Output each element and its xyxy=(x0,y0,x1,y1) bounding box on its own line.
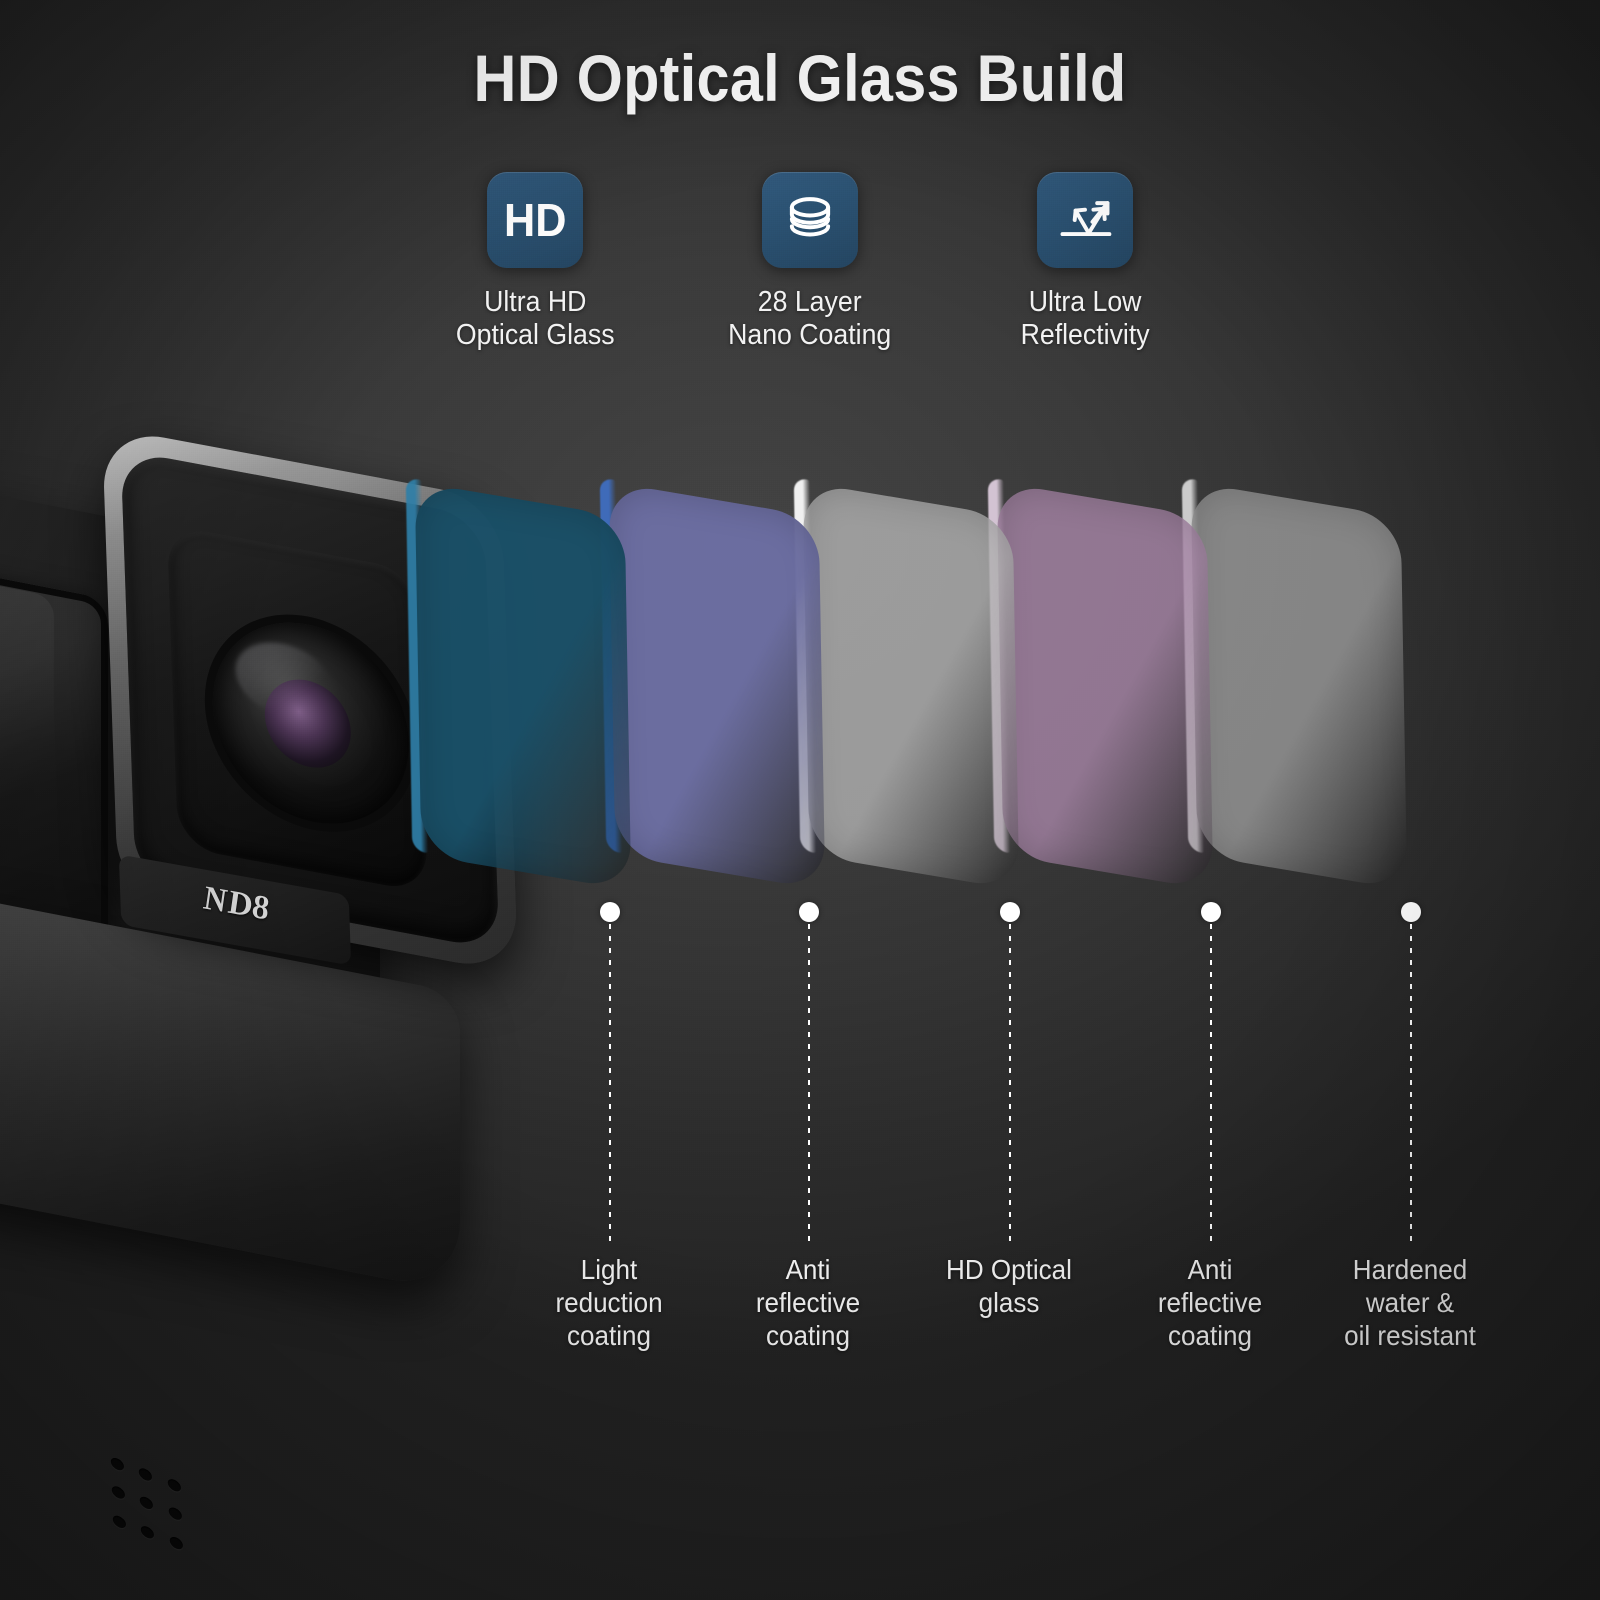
glass-panel-hardened-coating xyxy=(1191,482,1407,890)
layer-caption-anti-reflective-inner: Anti reflective coating xyxy=(1098,1254,1321,1352)
feature-label-line-2: Nano Coating xyxy=(728,319,891,352)
layer-caption-hd-optical-glass: HD Optical glass xyxy=(897,1254,1120,1320)
hd-icon-label: HD xyxy=(504,193,566,247)
microphone-grille-icon xyxy=(111,1456,190,1561)
caption-line-3: coating xyxy=(696,1320,919,1353)
leader-dot-icon xyxy=(1401,902,1421,922)
layer-stack-icon xyxy=(762,172,858,268)
panel-face xyxy=(997,482,1213,890)
panel-face xyxy=(609,482,825,890)
leader-dotted-line xyxy=(808,924,810,1244)
caption-line-2: reflective xyxy=(1098,1287,1321,1320)
infographic-canvas: ND8 xyxy=(0,0,1600,1600)
caption-line-1: Light xyxy=(497,1254,720,1287)
feature-badge-row: HD Ultra HD Optical Glass 28 Layer Nano … xyxy=(430,172,1190,352)
feature-label: Ultra Low Reflectivity xyxy=(1020,286,1149,352)
caption-line-3: coating xyxy=(1098,1320,1321,1353)
page-title: HD Optical Glass Build xyxy=(80,40,1520,116)
caption-line-1: Hardened xyxy=(1298,1254,1521,1287)
layer-caption-hardened-coating: Hardened water & oil resistant xyxy=(1298,1254,1521,1352)
caption-line-3: coating xyxy=(497,1320,720,1353)
leader-dotted-line xyxy=(609,924,611,1244)
caption-line-1: Anti xyxy=(1098,1254,1321,1287)
glass-panel-anti-reflective-inner xyxy=(997,482,1213,890)
panel-face xyxy=(803,482,1019,890)
caption-line-2: water & xyxy=(1298,1287,1521,1320)
leader-dot-icon xyxy=(799,902,819,922)
leader-dotted-line xyxy=(1210,924,1212,1244)
feature-28-layer-nano-coating: 28 Layer Nano Coating xyxy=(705,172,915,352)
feature-label-line-1: 28 Layer xyxy=(728,286,891,319)
caption-line-2: glass xyxy=(897,1287,1120,1320)
feature-label: Ultra HD Optical Glass xyxy=(456,286,615,352)
low-reflectivity-icon xyxy=(1037,172,1133,268)
feature-label-line-2: Reflectivity xyxy=(1020,319,1149,352)
hd-text-icon: HD xyxy=(487,172,583,268)
glass-panel-hd-optical-glass xyxy=(803,482,1019,890)
caption-line-1: HD Optical xyxy=(897,1254,1120,1287)
caption-line-3: oil resistant xyxy=(1298,1320,1521,1353)
caption-line-1: Anti xyxy=(696,1254,919,1287)
leader-dot-icon xyxy=(600,902,620,922)
leader-dot-icon xyxy=(1000,902,1020,922)
feature-ultra-hd-optical-glass: HD Ultra HD Optical Glass xyxy=(430,172,640,352)
feature-label-line-1: Ultra Low xyxy=(1020,286,1149,319)
caption-line-2: reflective xyxy=(696,1287,919,1320)
layer-caption-light-reduction-coating: Light reduction coating xyxy=(497,1254,720,1352)
leader-dot-icon xyxy=(1201,902,1221,922)
leader-dotted-line xyxy=(1009,924,1011,1244)
feature-ultra-low-reflectivity: Ultra Low Reflectivity xyxy=(980,172,1190,352)
glass-panel-light-reduction-coating xyxy=(415,482,631,890)
leader-dotted-line xyxy=(1410,924,1412,1244)
feature-label: 28 Layer Nano Coating xyxy=(728,286,891,352)
camera-folding-mount xyxy=(0,1532,110,1600)
layer-caption-anti-reflective-outer: Anti reflective coating xyxy=(696,1254,919,1352)
feature-label-line-2: Optical Glass xyxy=(456,319,615,352)
panel-face xyxy=(415,482,631,890)
glass-panel-anti-reflective-outer xyxy=(609,482,825,890)
feature-label-line-1: Ultra HD xyxy=(456,286,615,319)
caption-line-2: reduction xyxy=(497,1287,720,1320)
panel-face xyxy=(1191,482,1407,890)
